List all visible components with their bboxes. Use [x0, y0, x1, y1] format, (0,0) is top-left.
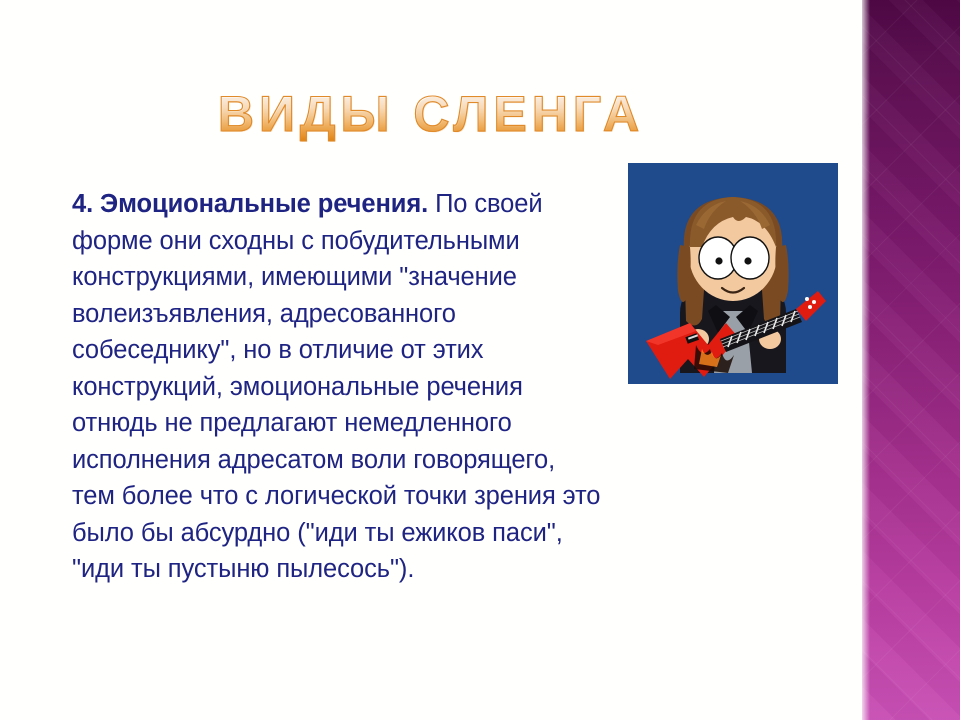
body-lead-sentence: 4. Эмоциональные речения.: [72, 190, 428, 218]
illustration-guitarist: [628, 163, 838, 384]
side-band-diamond-pattern: [862, 0, 960, 720]
side-decoration-band: [862, 0, 960, 720]
side-band-edge-highlight: [862, 0, 870, 720]
slide: Виды сленга 4. Эмоциональные речения. По…: [0, 0, 960, 720]
guitarist-graphic: [628, 163, 838, 384]
body-rest-text: По своей форме они сходны с побудительны…: [72, 190, 600, 583]
body-paragraph: 4. Эмоциональные речения. По своей форме…: [72, 186, 602, 588]
page-title: Виды сленга: [218, 88, 644, 141]
page-title-container: Виды сленга: [0, 88, 862, 141]
